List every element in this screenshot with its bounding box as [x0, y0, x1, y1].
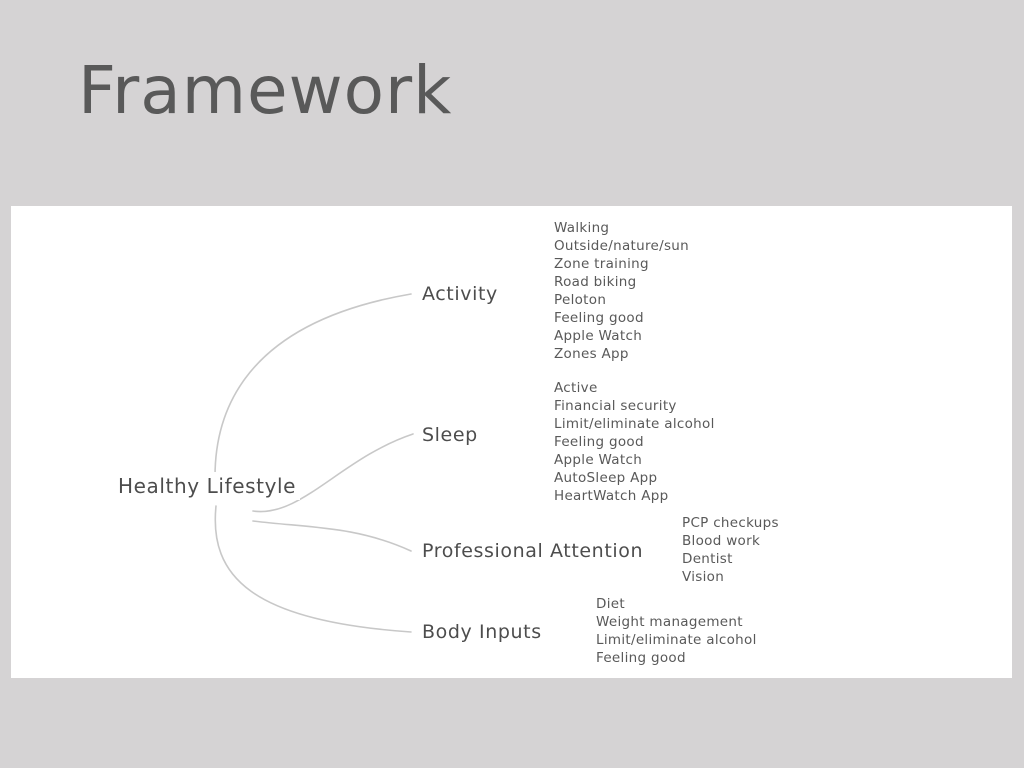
list-item: Zone training [554, 255, 689, 273]
list-item: Financial security [554, 397, 715, 415]
mindmap-root-node[interactable]: Healthy Lifestyle [114, 472, 300, 500]
detail-list-activity: Walking Outside/nature/sun Zone training… [554, 219, 689, 363]
list-item: Feeling good [596, 649, 757, 667]
list-item: Diet [596, 595, 757, 613]
detail-list-body-inputs: Diet Weight management Limit/eliminate a… [596, 595, 757, 667]
connector-layer [11, 206, 1012, 678]
list-item: Weight management [596, 613, 757, 631]
list-item: Outside/nature/sun [554, 237, 689, 255]
list-item: Road biking [554, 273, 689, 291]
mindmap-panel: Healthy Lifestyle Activity Walking Outsi… [11, 206, 1012, 678]
branch-label-sleep[interactable]: Sleep [419, 423, 481, 447]
list-item: Vision [682, 568, 779, 586]
list-item: HeartWatch App [554, 487, 715, 505]
branch-label-professional-attention[interactable]: Professional Attention [419, 539, 646, 563]
list-item: Dentist [682, 550, 779, 568]
list-item: Active [554, 379, 715, 397]
branch-label-activity[interactable]: Activity [419, 282, 501, 306]
connector-activity [215, 294, 411, 498]
slide-canvas: Framework Healthy Lifestyle Activity Wal… [0, 0, 1024, 768]
list-item: Limit/eliminate alcohol [554, 415, 715, 433]
list-item: Limit/eliminate alcohol [596, 631, 757, 649]
list-item: AutoSleep App [554, 469, 715, 487]
list-item: Zones App [554, 345, 689, 363]
detail-list-sleep: Active Financial security Limit/eliminat… [554, 379, 715, 505]
list-item: Feeling good [554, 309, 689, 327]
connector-professional-attention [253, 521, 411, 551]
branch-label-body-inputs[interactable]: Body Inputs [419, 620, 545, 644]
list-item: Blood work [682, 532, 779, 550]
list-item: Feeling good [554, 433, 715, 451]
page-title: Framework [78, 58, 452, 124]
list-item: Apple Watch [554, 327, 689, 345]
list-item: PCP checkups [682, 514, 779, 532]
list-item: Peloton [554, 291, 689, 309]
connector-body-inputs [215, 506, 411, 632]
list-item: Apple Watch [554, 451, 715, 469]
detail-list-professional-attention: PCP checkups Blood work Dentist Vision [682, 514, 779, 586]
list-item: Walking [554, 219, 689, 237]
